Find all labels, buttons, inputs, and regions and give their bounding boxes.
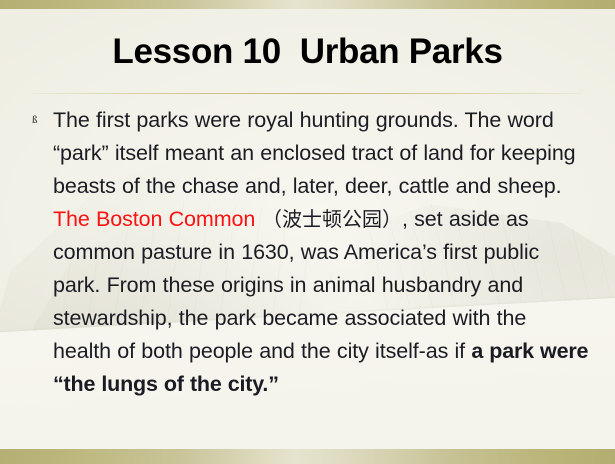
body-run-highlight-boston-common: The Boston Common bbox=[53, 207, 255, 231]
title-divider bbox=[33, 93, 582, 94]
slide-canvas: Lesson 10 Urban Parks ß The first parks … bbox=[0, 0, 615, 464]
bottom-accent-bar bbox=[0, 449, 615, 464]
body-run-chinese-gloss: （波士顿公园） bbox=[255, 207, 402, 231]
body-run-0: The first parks were royal hunting groun… bbox=[53, 108, 576, 198]
bullet-marker-icon: ß bbox=[28, 104, 53, 137]
body-paragraph-block: ß The first parks were royal hunting gro… bbox=[28, 104, 590, 401]
slide-title: Lesson 10 Urban Parks bbox=[0, 31, 615, 73]
body-paragraph: The first parks were royal hunting groun… bbox=[53, 104, 590, 401]
top-accent-bar bbox=[0, 0, 615, 9]
